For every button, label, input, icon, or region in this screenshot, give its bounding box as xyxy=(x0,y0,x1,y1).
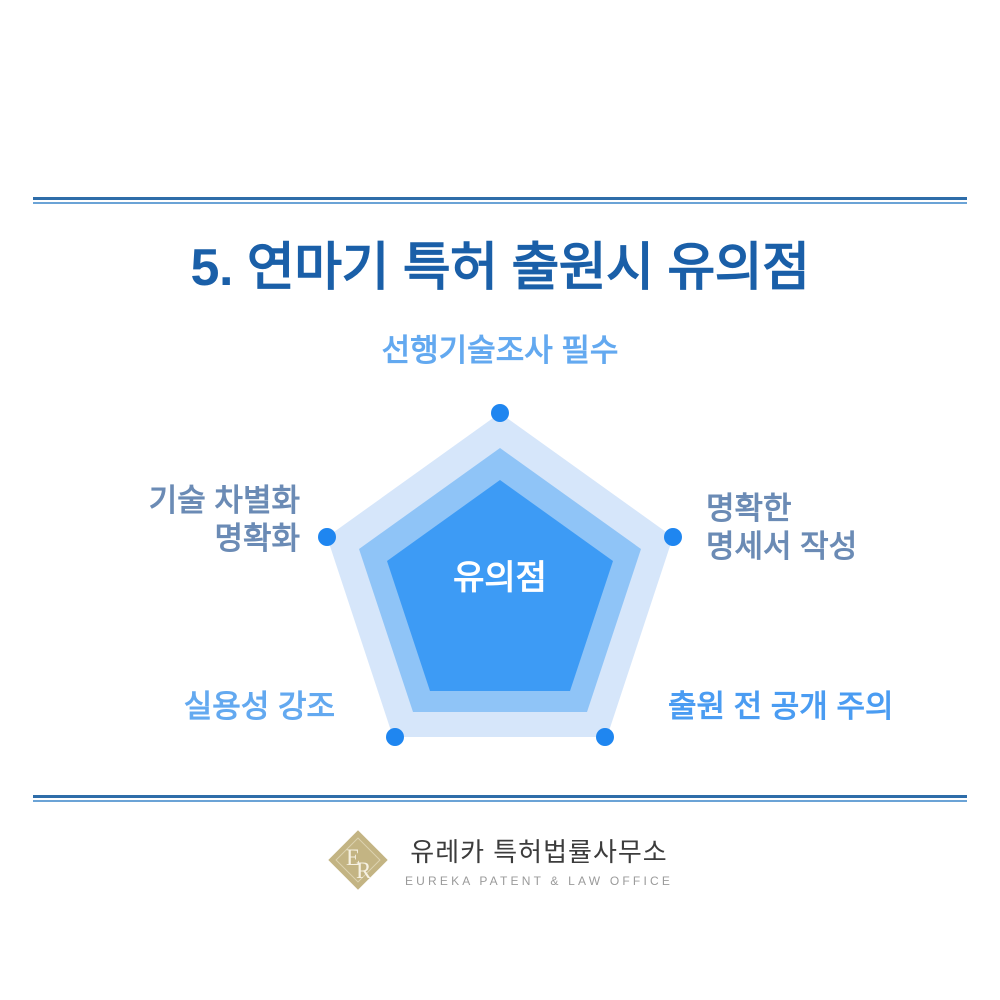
bottom-divider xyxy=(33,795,967,802)
node-label-top: 선행기술조사 필수 xyxy=(250,332,750,370)
vertex-dot-bottom-right[interactable] xyxy=(596,728,614,746)
top-divider xyxy=(33,197,967,204)
divider-thin-line xyxy=(33,800,967,802)
vertex-dot-top[interactable] xyxy=(491,404,509,422)
logo-name-korean: 유레카 특허법률사무소 xyxy=(410,832,667,869)
monogram-letter-r: R xyxy=(356,859,371,882)
logo-name-english: EUREKA PATENT & LAW OFFICE xyxy=(405,874,673,888)
pentagon-center-label: 유의점 xyxy=(400,550,600,599)
vertex-dot-right[interactable] xyxy=(664,528,682,546)
vertex-dot-bottom-left[interactable] xyxy=(386,728,404,746)
page-title: 5. 연마기 특허 출원시 유의점 xyxy=(0,225,1000,300)
node-label-bottom-right: 출원 전 공개 주의 xyxy=(668,688,968,726)
footer-logo: E R 유레카 특허법률사무소 EUREKA PATENT & LAW OFFI… xyxy=(0,820,1000,900)
pentagon-diagram: 유의점 선행기술조사 필수 명확한 명세서 작성 출원 전 공개 주의 실용성 … xyxy=(0,300,1000,780)
monogram: E R xyxy=(327,829,389,891)
node-label-bottom-left: 실용성 강조 xyxy=(60,688,335,726)
node-label-right: 명확한 명세서 작성 xyxy=(706,490,976,566)
node-label-left: 기술 차별화 명확화 xyxy=(40,482,300,558)
logo-wrap: E R 유레카 특허법률사무소 EUREKA PATENT & LAW OFFI… xyxy=(327,829,673,891)
vertex-dot-left[interactable] xyxy=(318,528,336,546)
divider-thin-line xyxy=(33,202,967,204)
logo-text: 유레카 특허법률사무소 EUREKA PATENT & LAW OFFICE xyxy=(405,832,673,888)
slide-canvas: 5. 연마기 특허 출원시 유의점 유의점 선행기술조사 필수 명확한 명세서 … xyxy=(0,0,1000,1000)
eureka-diamond-icon: E R xyxy=(327,829,389,891)
